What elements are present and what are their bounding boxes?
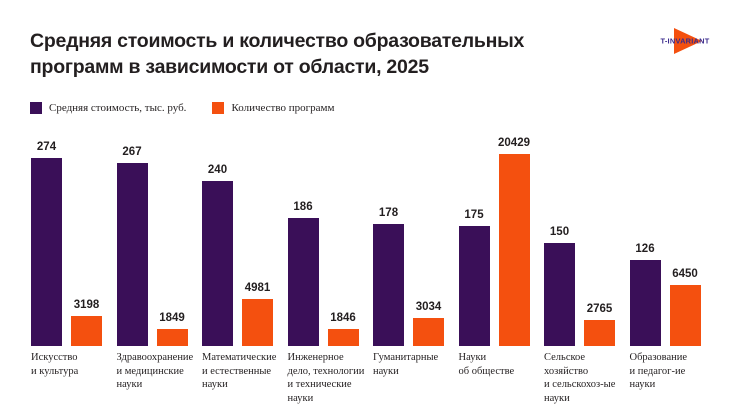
bar-value-label: 2765: [587, 303, 613, 316]
chart-header: Средняя стоимость и количество образоват…: [0, 0, 736, 95]
bar-count[interactable]: 2765: [584, 130, 615, 346]
x-axis-category-label: Инженерное дело, технологии и технически…: [288, 351, 368, 405]
bar-value-label: 274: [37, 141, 56, 154]
bar-value-label: 1849: [159, 312, 185, 325]
t-invariant-logo: T-INVARIANT: [648, 26, 722, 56]
x-axis-category-label: Гуманитарные науки: [373, 351, 453, 378]
bar-value-label: 3198: [74, 299, 100, 312]
bar-value-label: 126: [635, 243, 654, 256]
bar-value-label: 175: [464, 209, 483, 222]
chart-plot-area: 2743198267184924049811861846178303417520…: [30, 130, 716, 346]
legend-item-cost: Средняя стоимость, тыс. руб.: [30, 102, 186, 114]
chart-legend: Средняя стоимость, тыс. руб. Количество …: [30, 99, 334, 117]
bar-rect[interactable]: [202, 181, 233, 346]
x-axis-category-label: Образование и педагог-ие науки: [630, 351, 710, 392]
x-axis-category-label: Математические и естественные науки: [202, 351, 282, 392]
legend-item-label: Количество программ: [231, 102, 334, 114]
bar-count[interactable]: 3034: [413, 130, 444, 346]
bar-rect[interactable]: [630, 260, 661, 346]
bar-rect[interactable]: [670, 285, 701, 346]
bar-rect[interactable]: [459, 226, 490, 346]
legend-square-icon: [30, 102, 42, 114]
x-axis-category-label: Искусство и культура: [31, 351, 111, 378]
bar-value-label: 4981: [245, 282, 271, 295]
bar-value-label: 267: [122, 146, 141, 159]
bar-rect[interactable]: [328, 329, 359, 346]
bar-cost[interactable]: 240: [202, 130, 233, 346]
bar-rect[interactable]: [157, 329, 188, 346]
bar-count[interactable]: 3198: [71, 130, 102, 346]
logo-text: T-INVARIANT: [660, 37, 709, 46]
bar-rect[interactable]: [584, 320, 615, 346]
bar-count[interactable]: 20429: [499, 130, 530, 346]
bar-cost[interactable]: 126: [630, 130, 661, 346]
bar-value-label: 186: [293, 201, 312, 214]
page-title: Средняя стоимость и количество образоват…: [30, 28, 610, 80]
bar-rect[interactable]: [288, 218, 319, 346]
bar-value-label: 3034: [416, 301, 442, 314]
legend-item-label: Средняя стоимость, тыс. руб.: [49, 102, 186, 114]
bar-count[interactable]: 1849: [157, 130, 188, 346]
logo-triangle-icon: T-INVARIANT: [648, 26, 722, 56]
bar-value-label: 150: [550, 226, 569, 239]
x-axis-category-label: Сельское хозяйство и сельскохоз-ые науки: [544, 351, 624, 405]
bar-value-label: 6450: [672, 268, 698, 281]
bar-count[interactable]: 4981: [242, 130, 273, 346]
bar-cost[interactable]: 178: [373, 130, 404, 346]
bar-count[interactable]: 6450: [670, 130, 701, 346]
legend-square-icon: [212, 102, 224, 114]
bar-cost[interactable]: 267: [117, 130, 148, 346]
chart-page: Средняя стоимость и количество образоват…: [0, 0, 736, 414]
bar-cost[interactable]: 175: [459, 130, 490, 346]
legend-item-count: Количество программ: [212, 102, 334, 114]
bar-count[interactable]: 1846: [328, 130, 359, 346]
bar-cost[interactable]: 150: [544, 130, 575, 346]
bar-value-label: 240: [208, 164, 227, 177]
bar-rect[interactable]: [31, 158, 62, 346]
bar-value-label: 178: [379, 207, 398, 220]
bar-cost[interactable]: 274: [31, 130, 62, 346]
x-axis-category-label: Здравоохранение и медицинские науки: [117, 351, 197, 392]
bar-rect[interactable]: [373, 224, 404, 346]
chart-x-axis-labels: Искусство и культураЗдравоохранение и ме…: [30, 351, 736, 411]
bar-rect[interactable]: [71, 316, 102, 346]
bar-rect[interactable]: [242, 299, 273, 346]
bar-rect[interactable]: [117, 163, 148, 346]
bar-rect[interactable]: [499, 154, 530, 346]
bar-value-label: 20429: [498, 137, 530, 150]
bar-rect[interactable]: [544, 243, 575, 346]
bar-rect[interactable]: [413, 318, 444, 346]
x-axis-category-label: Науки об обществе: [459, 351, 539, 378]
bar-cost[interactable]: 186: [288, 130, 319, 346]
bar-value-label: 1846: [330, 312, 356, 325]
